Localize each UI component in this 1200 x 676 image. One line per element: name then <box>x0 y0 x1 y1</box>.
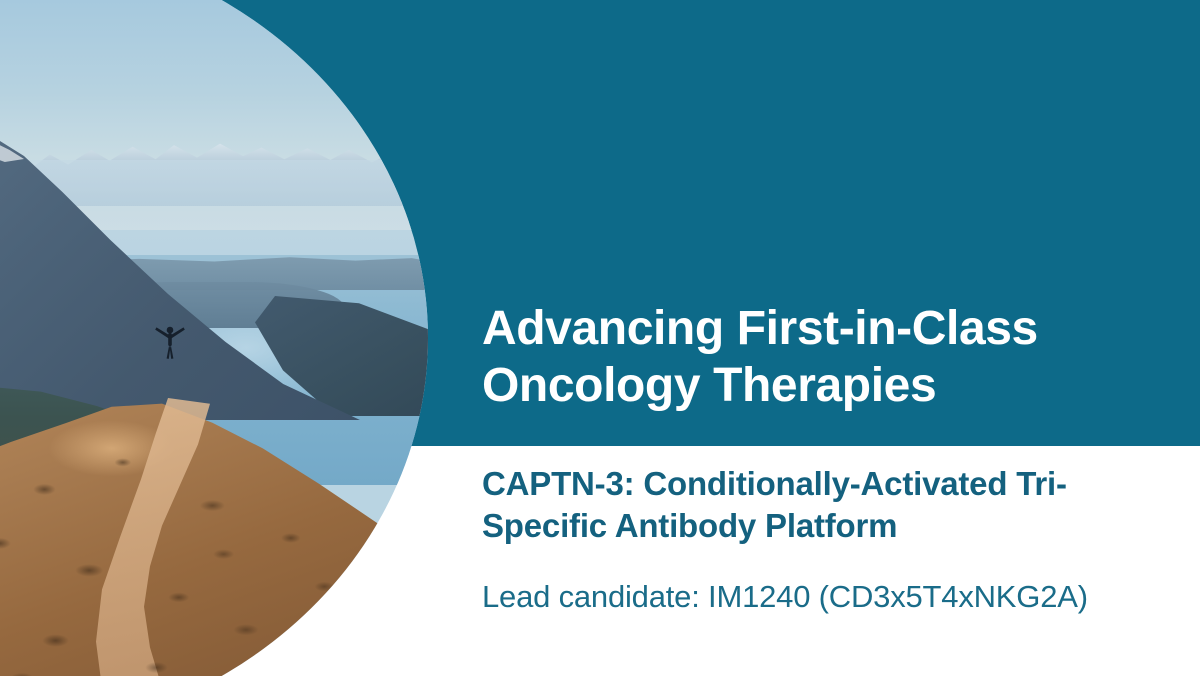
title-slide: Advancing First-in-Class Oncology Therap… <box>0 0 1200 676</box>
lead-candidate-text: Lead candidate: IM1240 (CD3x5T4xNKG2A) <box>482 578 1088 616</box>
subtitle-line-1: CAPTN-3: Conditionally-Activated Tri- <box>482 463 1182 505</box>
title-line-2: Oncology Therapies <box>482 357 1182 414</box>
page-title: Advancing First-in-Class Oncology Therap… <box>482 300 1182 414</box>
subtitle-line-2: Specific Antibody Platform <box>482 505 1182 547</box>
title-line-1: Advancing First-in-Class <box>482 300 1182 357</box>
hiker-silhouette-icon <box>148 322 192 366</box>
page-subtitle: CAPTN-3: Conditionally-Activated Tri- Sp… <box>482 463 1182 547</box>
